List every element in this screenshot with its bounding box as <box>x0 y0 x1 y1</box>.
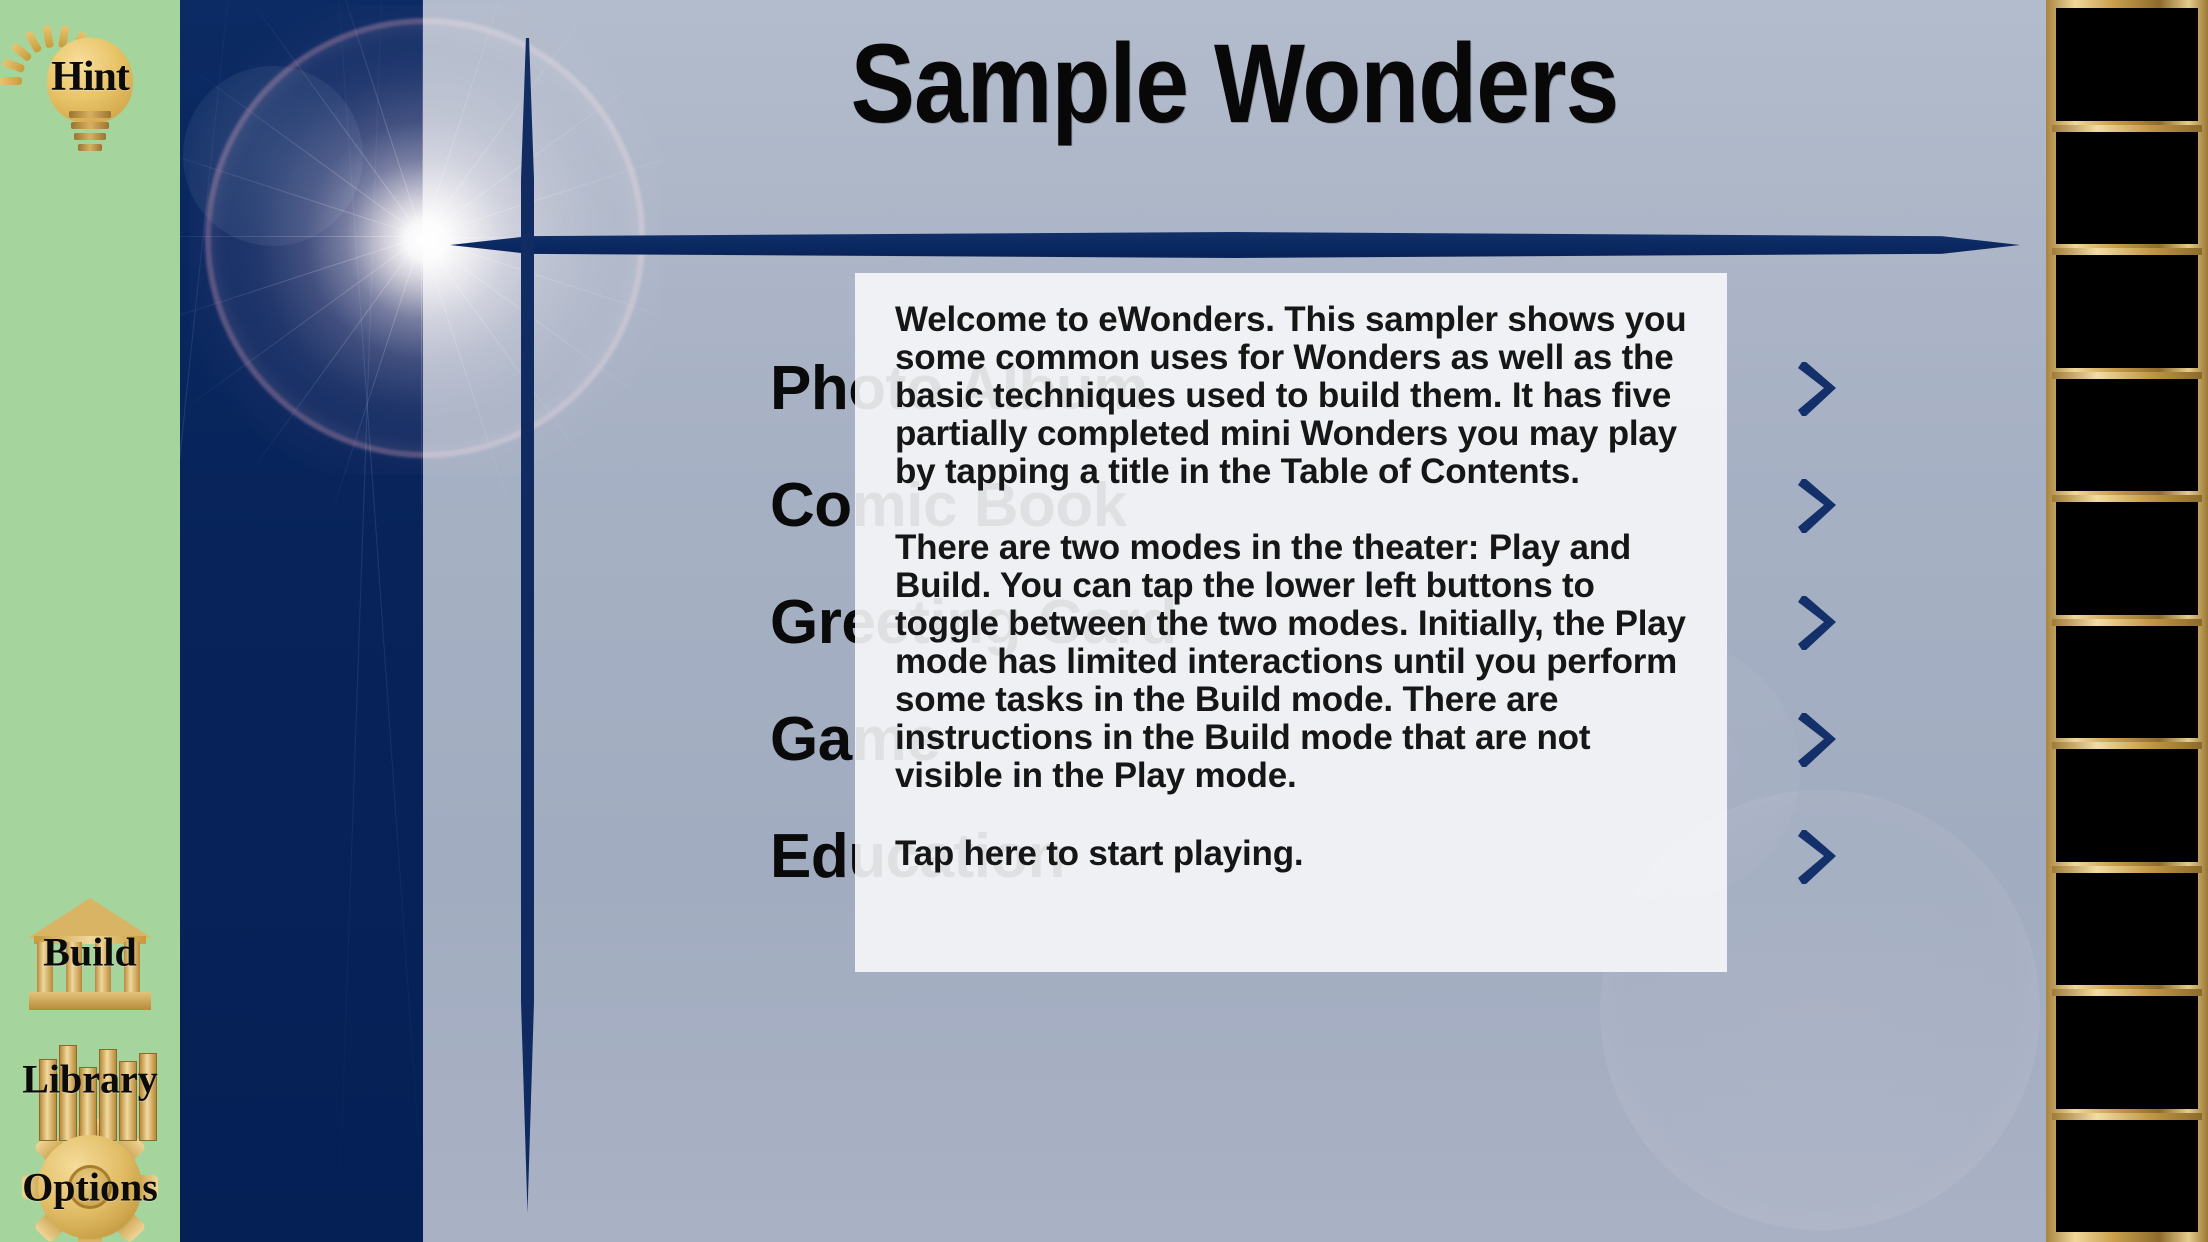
filmstrip-separator <box>2052 1113 2202 1120</box>
filmstrip-cell[interactable] <box>2056 255 2198 368</box>
filmstrip-panel <box>2046 0 2208 1242</box>
filmstrip-separator <box>2052 989 2202 996</box>
chevron-right-icon[interactable] <box>1796 360 1842 418</box>
filmstrip-cell[interactable] <box>2056 379 2198 492</box>
horizontal-divider-bar <box>450 232 2020 258</box>
left-sidebar: Hint Build <box>0 0 180 1242</box>
info-paragraph-2: There are two modes in the theater: Play… <box>895 529 1689 795</box>
filmstrip-separator <box>2052 742 2202 749</box>
filmstrip-separator <box>2052 866 2202 873</box>
chevron-right-icon[interactable] <box>1796 594 1842 652</box>
filmstrip-separator <box>2052 248 2202 255</box>
app-stage: Sample Wonders Photo Album Comic Book Gr… <box>0 0 2208 1242</box>
navy-side-band <box>180 0 423 1242</box>
library-button-label: Library <box>0 1056 180 1103</box>
filmstrip-separator <box>2052 125 2202 132</box>
chevron-right-icon[interactable] <box>1796 477 1842 535</box>
filmstrip-cell[interactable] <box>2056 626 2198 739</box>
chevron-right-icon[interactable] <box>1796 828 1842 886</box>
filmstrip-cell[interactable] <box>2056 749 2198 862</box>
vertical-divider-bar <box>521 38 534 1213</box>
build-button-label: Build <box>0 929 180 976</box>
options-button-label: Options <box>0 1164 180 1211</box>
page-title: Sample Wonders <box>537 28 1933 140</box>
filmstrip-separator <box>2052 372 2202 379</box>
filmstrip-separator <box>2052 619 2202 626</box>
hint-button-label: Hint <box>0 53 180 101</box>
filmstrip-separator <box>2052 495 2202 502</box>
welcome-info-panel[interactable]: Welcome to eWonders. This sampler shows … <box>855 273 1727 972</box>
info-paragraph-1: Welcome to eWonders. This sampler shows … <box>895 301 1689 491</box>
hint-button[interactable]: Hint <box>0 2 180 152</box>
chevron-right-icon[interactable] <box>1796 711 1842 769</box>
build-button[interactable]: Build <box>0 888 180 1016</box>
filmstrip-cell[interactable] <box>2056 873 2198 986</box>
info-paragraph-tap-to-start: Tap here to start playing. <box>895 835 1689 873</box>
filmstrip-cell[interactable] <box>2056 1120 2198 1233</box>
filmstrip-cell[interactable] <box>2056 132 2198 245</box>
filmstrip-cell[interactable] <box>2056 8 2198 121</box>
filmstrip-cell[interactable] <box>2056 996 2198 1109</box>
options-button[interactable]: Options <box>0 1132 180 1242</box>
filmstrip-cell[interactable] <box>2056 502 2198 615</box>
